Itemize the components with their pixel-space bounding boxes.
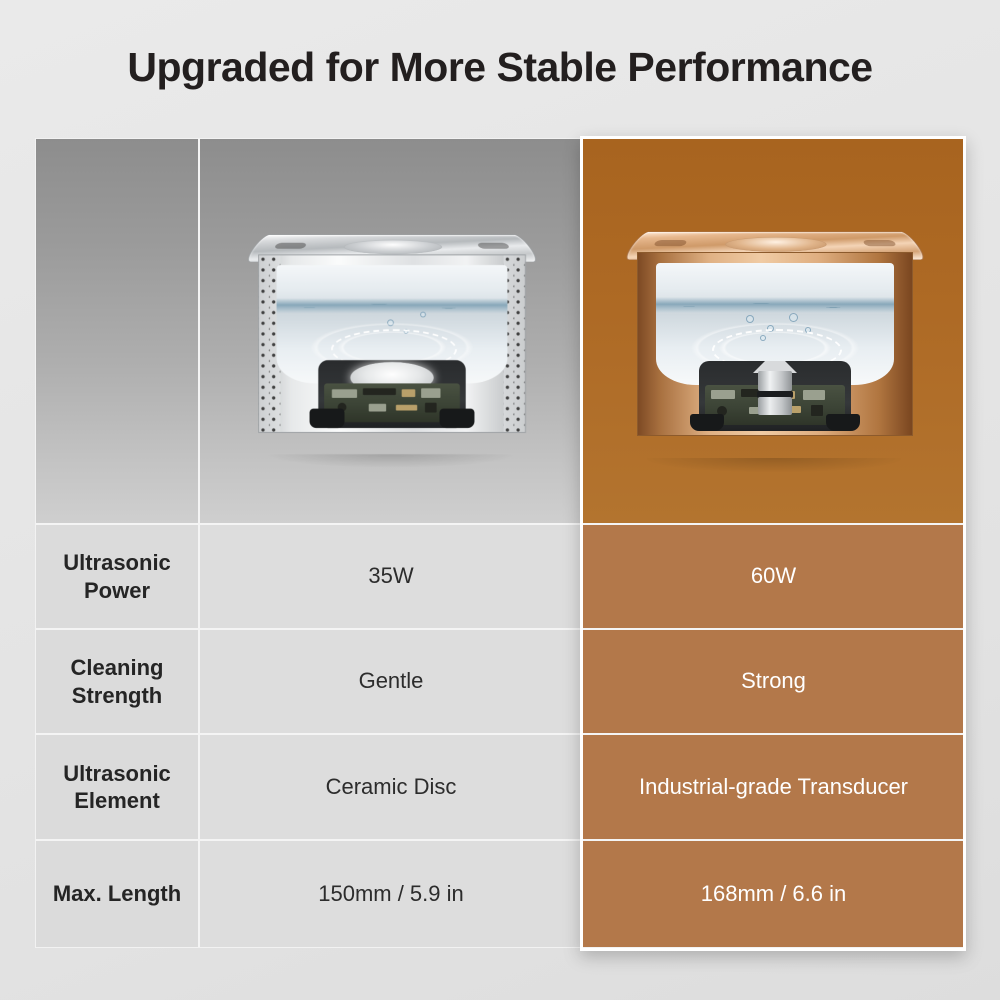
water-surface-line <box>656 297 894 313</box>
table-row-ultrasonic-power: Ultrasonic Power 35W 60W <box>36 525 965 630</box>
table-row-images <box>36 139 965 525</box>
foot-right <box>826 414 860 431</box>
ultrasonic-cleaner-silver-illustration <box>231 200 551 462</box>
new-value-max-length: 168mm / 6.6 in <box>582 841 965 947</box>
table-row-cleaning-strength: Cleaning Strength Gentle Strong <box>36 630 965 735</box>
page-title: Upgraded for More Stable Performance <box>0 44 1000 91</box>
chip <box>811 405 823 416</box>
new-value-ultrasonic-element: Industrial-grade Transducer <box>582 735 965 839</box>
chip <box>363 388 396 395</box>
new-value-ultrasonic-power: 60W <box>582 525 965 628</box>
row-label-max-length: Max. Length <box>36 841 200 947</box>
lid-handle-slot-left <box>653 240 688 246</box>
chip <box>711 390 735 399</box>
chip <box>421 388 440 398</box>
water-surface-line <box>277 298 508 314</box>
chip <box>396 405 417 411</box>
industrial-transducer-icon <box>753 361 797 417</box>
transducer-body <box>758 371 792 391</box>
lid-handle-slot-right <box>862 240 897 246</box>
row-label-cleaning-strength: Cleaning Strength <box>36 630 200 733</box>
chip <box>402 389 416 397</box>
old-value-ultrasonic-element: Ceramic Disc <box>200 735 582 839</box>
bubble <box>420 312 426 318</box>
lid-handle-slot-left <box>274 243 308 249</box>
shadow <box>647 458 901 472</box>
chip <box>425 403 437 413</box>
chip <box>369 404 386 412</box>
foot-left <box>690 414 724 431</box>
image-row-empty-label-cell <box>36 139 200 523</box>
row-label-ultrasonic-element: Ultrasonic Element <box>36 735 200 839</box>
tank-body-silver <box>258 254 526 432</box>
old-value-max-length: 150mm / 5.9 in <box>200 841 582 947</box>
chip <box>332 389 357 398</box>
lid-knob <box>342 240 444 254</box>
old-value-ultrasonic-power: 35W <box>200 525 582 628</box>
tank-body-copper <box>637 252 913 436</box>
foot-right <box>440 409 475 428</box>
table-row-ultrasonic-element: Ultrasonic Element Ceramic Disc Industri… <box>36 735 965 841</box>
lid-knob <box>723 237 828 252</box>
ultrasonic-cleaner-copper-illustration <box>609 196 939 466</box>
comparison-table: Ultrasonic Power 35W 60W Cleaning Streng… <box>35 138 966 948</box>
table-row-max-length: Max. Length 150mm / 5.9 in 168mm / 6.6 i… <box>36 841 965 947</box>
old-value-cleaning-strength: Gentle <box>200 630 582 733</box>
row-label-ultrasonic-power: Ultrasonic Power <box>36 525 200 628</box>
comparison-infographic: Upgraded for More Stable Performance <box>0 0 1000 1000</box>
new-value-cleaning-strength: Strong <box>582 630 965 733</box>
transducer-base <box>758 397 792 415</box>
shadow <box>268 454 514 468</box>
new-product-image-cell <box>582 139 965 523</box>
lid-handle-slot-right <box>477 243 511 249</box>
foot-left <box>310 409 345 428</box>
old-product-image-cell <box>200 139 582 523</box>
chip <box>803 390 825 400</box>
